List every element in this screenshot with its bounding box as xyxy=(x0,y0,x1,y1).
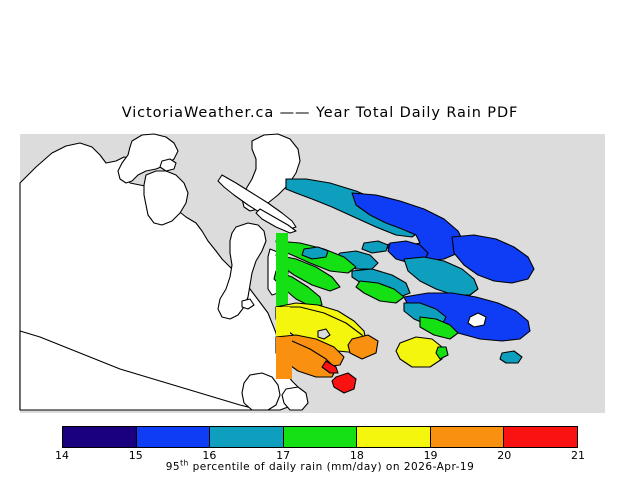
page-title: VictoriaWeather.ca —— Year Total Daily R… xyxy=(0,105,640,121)
region-green-nw-block xyxy=(276,233,288,307)
colorbar-segments[interactable] xyxy=(62,426,578,448)
land-nw-islet-small xyxy=(160,159,176,171)
caption-percentile-number: 95 xyxy=(166,461,180,473)
colorbar-segment-14-15[interactable] xyxy=(63,427,137,447)
colorbar-segment-15-16[interactable] xyxy=(137,427,211,447)
caption-rest-text: percentile of daily rain (mm/day) on 202… xyxy=(189,461,474,473)
colorbar-segment-20-21[interactable] xyxy=(504,427,577,447)
map-svg xyxy=(0,131,640,413)
caption-ordinal-suffix: th xyxy=(180,459,189,468)
region-orange-lower-block xyxy=(276,337,292,379)
weather-map-page: VictoriaWeather.ca —— Year Total Daily R… xyxy=(0,0,640,480)
map-canvas[interactable] xyxy=(0,131,640,413)
colorbar[interactable] xyxy=(62,426,578,448)
colorbar-segment-16-17[interactable] xyxy=(210,427,284,447)
colorbar-caption: 95th percentile of daily rain (mm/day) o… xyxy=(0,461,640,473)
colorbar-segment-19-20[interactable] xyxy=(431,427,505,447)
colorbar-segment-18-19[interactable] xyxy=(357,427,431,447)
colorbar-segment-17-18[interactable] xyxy=(284,427,358,447)
